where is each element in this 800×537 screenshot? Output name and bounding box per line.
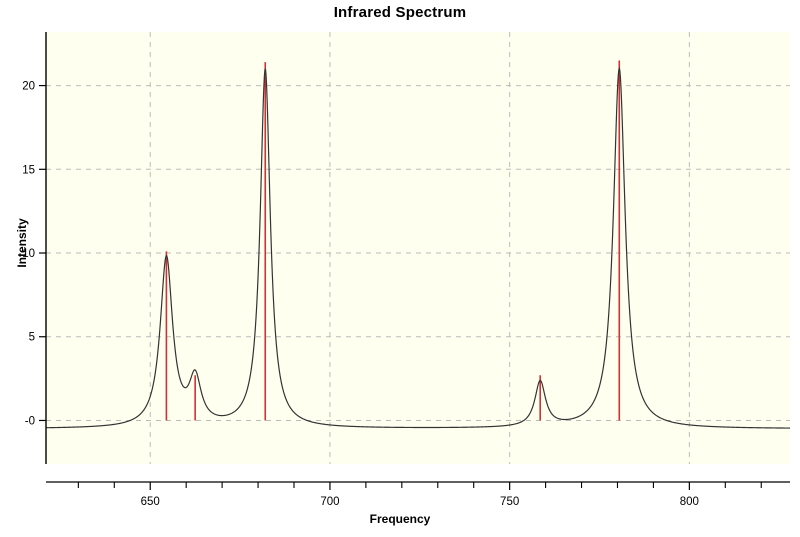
- x-axis-label: Frequency: [0, 512, 800, 526]
- y-tick-label: 20: [22, 81, 35, 93]
- chart-root: Infrared Spectrum 650700750800 -05101520…: [0, 0, 800, 537]
- x-tick-label: 800: [680, 496, 699, 508]
- chart-title: Infrared Spectrum: [0, 4, 800, 21]
- spectrum-plot: 650700750800 -05101520: [0, 0, 800, 537]
- y-tick-label: 15: [22, 164, 35, 176]
- x-tick-label: 750: [500, 496, 519, 508]
- x-tick-label: 650: [141, 496, 160, 508]
- y-tick-label: 5: [29, 332, 35, 344]
- x-tick-label: 700: [320, 496, 339, 508]
- y-tick-label: -0: [25, 415, 35, 427]
- x-axis-ticks: 650700750800: [78, 482, 761, 508]
- plot-background: [46, 32, 790, 464]
- y-axis-label: Intensity: [15, 183, 29, 303]
